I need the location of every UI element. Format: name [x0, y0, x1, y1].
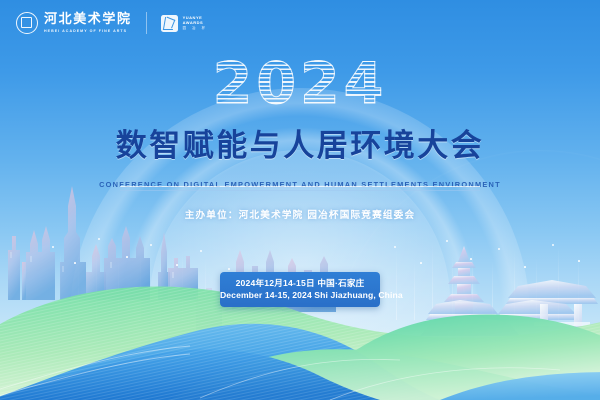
- particle: [98, 238, 100, 240]
- green-hill-right: [300, 314, 600, 400]
- particle: [446, 240, 448, 242]
- blue-wave-front: [0, 349, 380, 400]
- particle: [552, 244, 554, 246]
- particle: [200, 250, 202, 252]
- logo-hebei-cn: 河北美术学院: [44, 12, 132, 26]
- particle: [52, 246, 54, 248]
- green-hill-front: [170, 349, 600, 400]
- logo-yuanye-cn: 园 冶 杯: [183, 26, 208, 31]
- particle: [394, 246, 396, 248]
- conference-poster: 河北美术学院 HEBEI ACADEMY OF FINE ARTS YUANYE…: [0, 0, 600, 400]
- year-heading: 2024: [0, 56, 600, 113]
- logo-divider: [146, 12, 147, 34]
- yuanye-cup-mark-icon: [161, 15, 178, 32]
- background-arc-left: [0, 170, 210, 400]
- date-location-badge: 2024年12月14-15日 中国·石家庄 December 14-15, 20…: [220, 272, 380, 307]
- particle: [578, 260, 580, 262]
- blue-hill-left: [0, 324, 440, 400]
- logo-yuanye-en-line2: AWARDS: [183, 20, 208, 25]
- date-location-en: December 14-15, 2024 Shi Jiazhuang, Chin…: [220, 289, 380, 301]
- pagoda-silhouette: [434, 246, 494, 366]
- particle: [498, 248, 500, 250]
- university-seal-icon: [16, 12, 38, 34]
- logo-yuanye-cup[interactable]: YUANYE AWARDS 园 冶 杯: [161, 15, 208, 32]
- date-location-cn: 2024年12月14-15日 中国·石家庄: [220, 277, 380, 289]
- organizer-line: 主办单位：河北美术学院 园冶杯国际竞赛组委会: [0, 207, 600, 221]
- particle: [176, 264, 178, 266]
- divider-rule: [120, 186, 480, 191]
- particle: [228, 268, 230, 270]
- page-title: 数智赋能与人居环境大会: [0, 127, 600, 165]
- particle: [470, 258, 472, 260]
- logo-hebei-academy-of-fine-arts[interactable]: 河北美术学院 HEBEI ACADEMY OF FINE ARTS: [16, 12, 132, 34]
- poster-header: 河北美术学院 HEBEI ACADEMY OF FINE ARTS YUANYE…: [0, 0, 600, 46]
- particle: [74, 262, 76, 264]
- city-buildings-silhouette: [196, 288, 222, 330]
- particle: [420, 262, 422, 264]
- chinese-gate-silhouette: [418, 280, 598, 394]
- particle: [150, 244, 152, 246]
- logo-hebei-en: HEBEI ACADEMY OF FINE ARTS: [44, 28, 132, 34]
- particle: [524, 266, 526, 268]
- blue-wave-right: [440, 372, 600, 400]
- particle: [126, 256, 128, 258]
